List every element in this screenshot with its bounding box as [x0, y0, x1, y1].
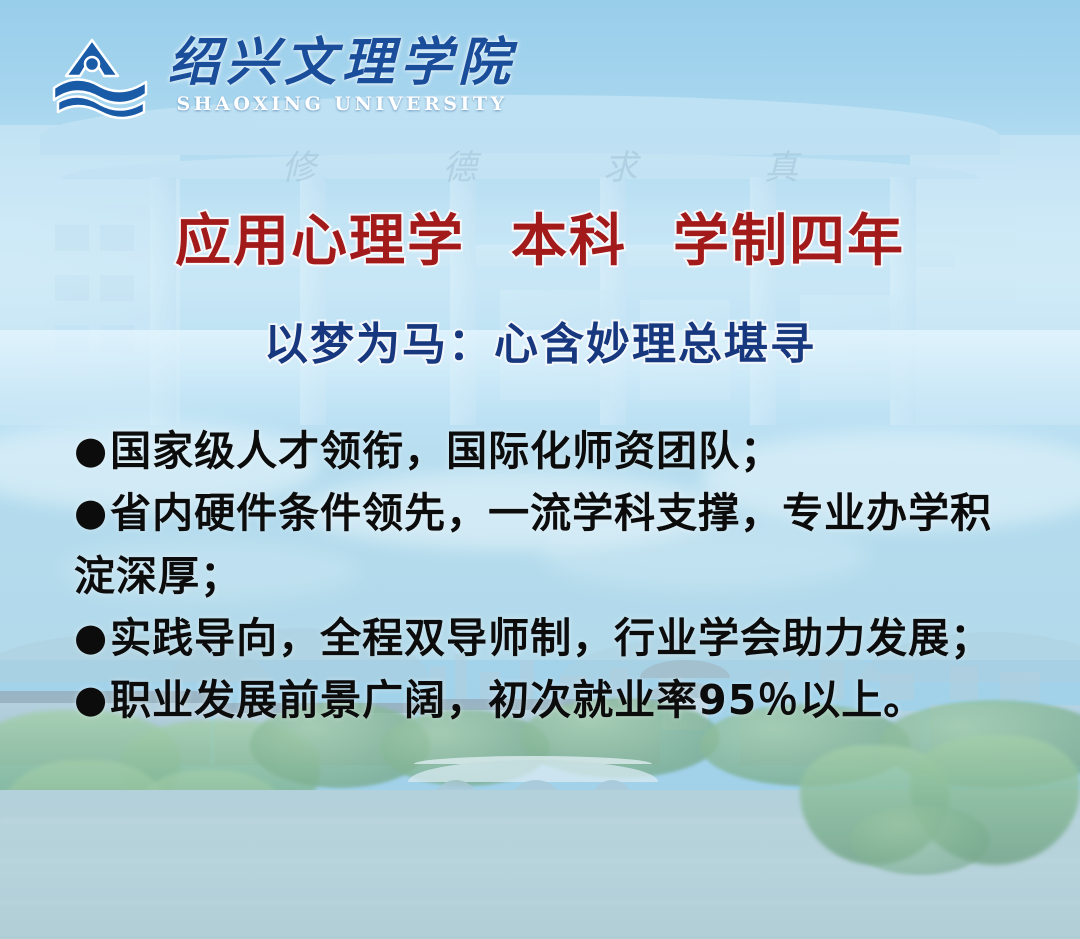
university-brand-header: 绍兴文理学院 SHAOXING UNIVERSITY [52, 32, 516, 120]
bullet-glyph: ● [74, 490, 108, 534]
list-item-text: 职业发展前景广阔，初次就业率95％以上。 [110, 676, 925, 724]
list-item: ●国家级人才领衔，国际化师资团队； [74, 420, 1034, 482]
title-duration: 学制四年 [673, 209, 905, 274]
bullet-glyph: ● [74, 615, 108, 659]
university-name-en: SHAOXING UNIVERSITY [176, 93, 507, 115]
subtitle-slogan: 以梦为马：心含妙理总堪寻 [0, 308, 1080, 372]
list-item: ●省内硬件条件领先，一流学科支撑，专业办学积淀深厚； [74, 482, 1034, 607]
highlights-list: ●国家级人才领衔，国际化师资团队； ●省内硬件条件领先，一流学科支撑，专业办学积… [74, 420, 1034, 732]
title-major: 应用心理学 [175, 209, 465, 274]
list-item-text: 实践导向，全程双导师制，行业学会助力发展； [110, 614, 992, 662]
list-item: ●实践导向，全程双导师制，行业学会助力发展； [74, 607, 1034, 669]
list-item-text: 国家级人才领衔，国际化师资团队； [110, 427, 782, 475]
list-item: ●职业发展前景广阔，初次就业率95％以上。 [74, 669, 1034, 731]
title-degree: 本科 [511, 209, 627, 274]
page-title: 应用心理学本科学制四年 [0, 196, 1080, 277]
list-item-text: 省内硬件条件领先，一流学科支撑，专业办学积淀深厚； [74, 489, 992, 599]
university-name-cn: 绍兴文理学院 [168, 37, 516, 89]
bullet-glyph: ● [74, 677, 108, 721]
bullet-glyph: ● [74, 428, 108, 472]
admissions-poster: 修 德 求 真 [0, 0, 1080, 939]
shaoxing-university-logo-icon [52, 32, 148, 120]
